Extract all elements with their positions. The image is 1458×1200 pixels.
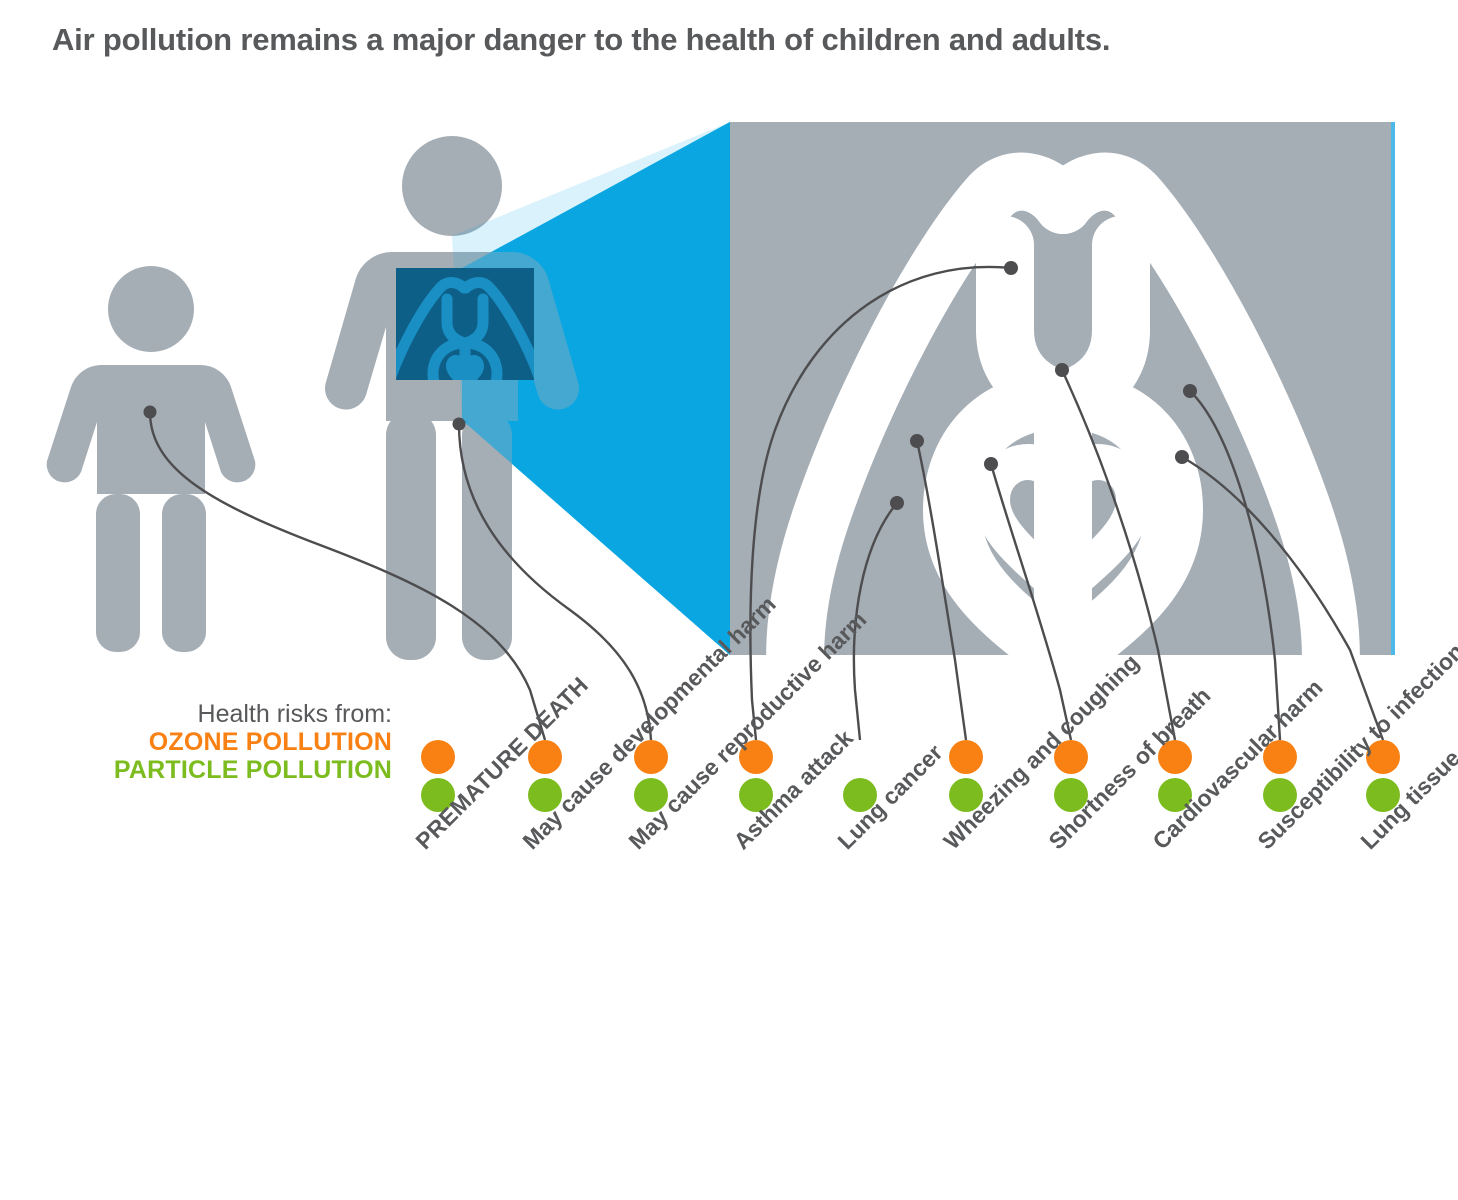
infographic-canvas: Air pollution remains a major danger to … [0, 0, 1458, 1200]
legend-ozone-label: OZONE POLLUTION [0, 728, 392, 756]
legend: Health risks from: OZONE POLLUTION PARTI… [0, 700, 392, 784]
child-pictogram [47, 266, 256, 652]
legend-particle-label: PARTICLE POLLUTION [0, 756, 392, 784]
ozone-dot-wheezing-and-coughing[interactable] [949, 740, 983, 774]
ozone-dot-premature-death[interactable] [421, 740, 455, 774]
legend-heading: Health risks from: [0, 700, 392, 728]
illustration-layer [0, 0, 1458, 1200]
